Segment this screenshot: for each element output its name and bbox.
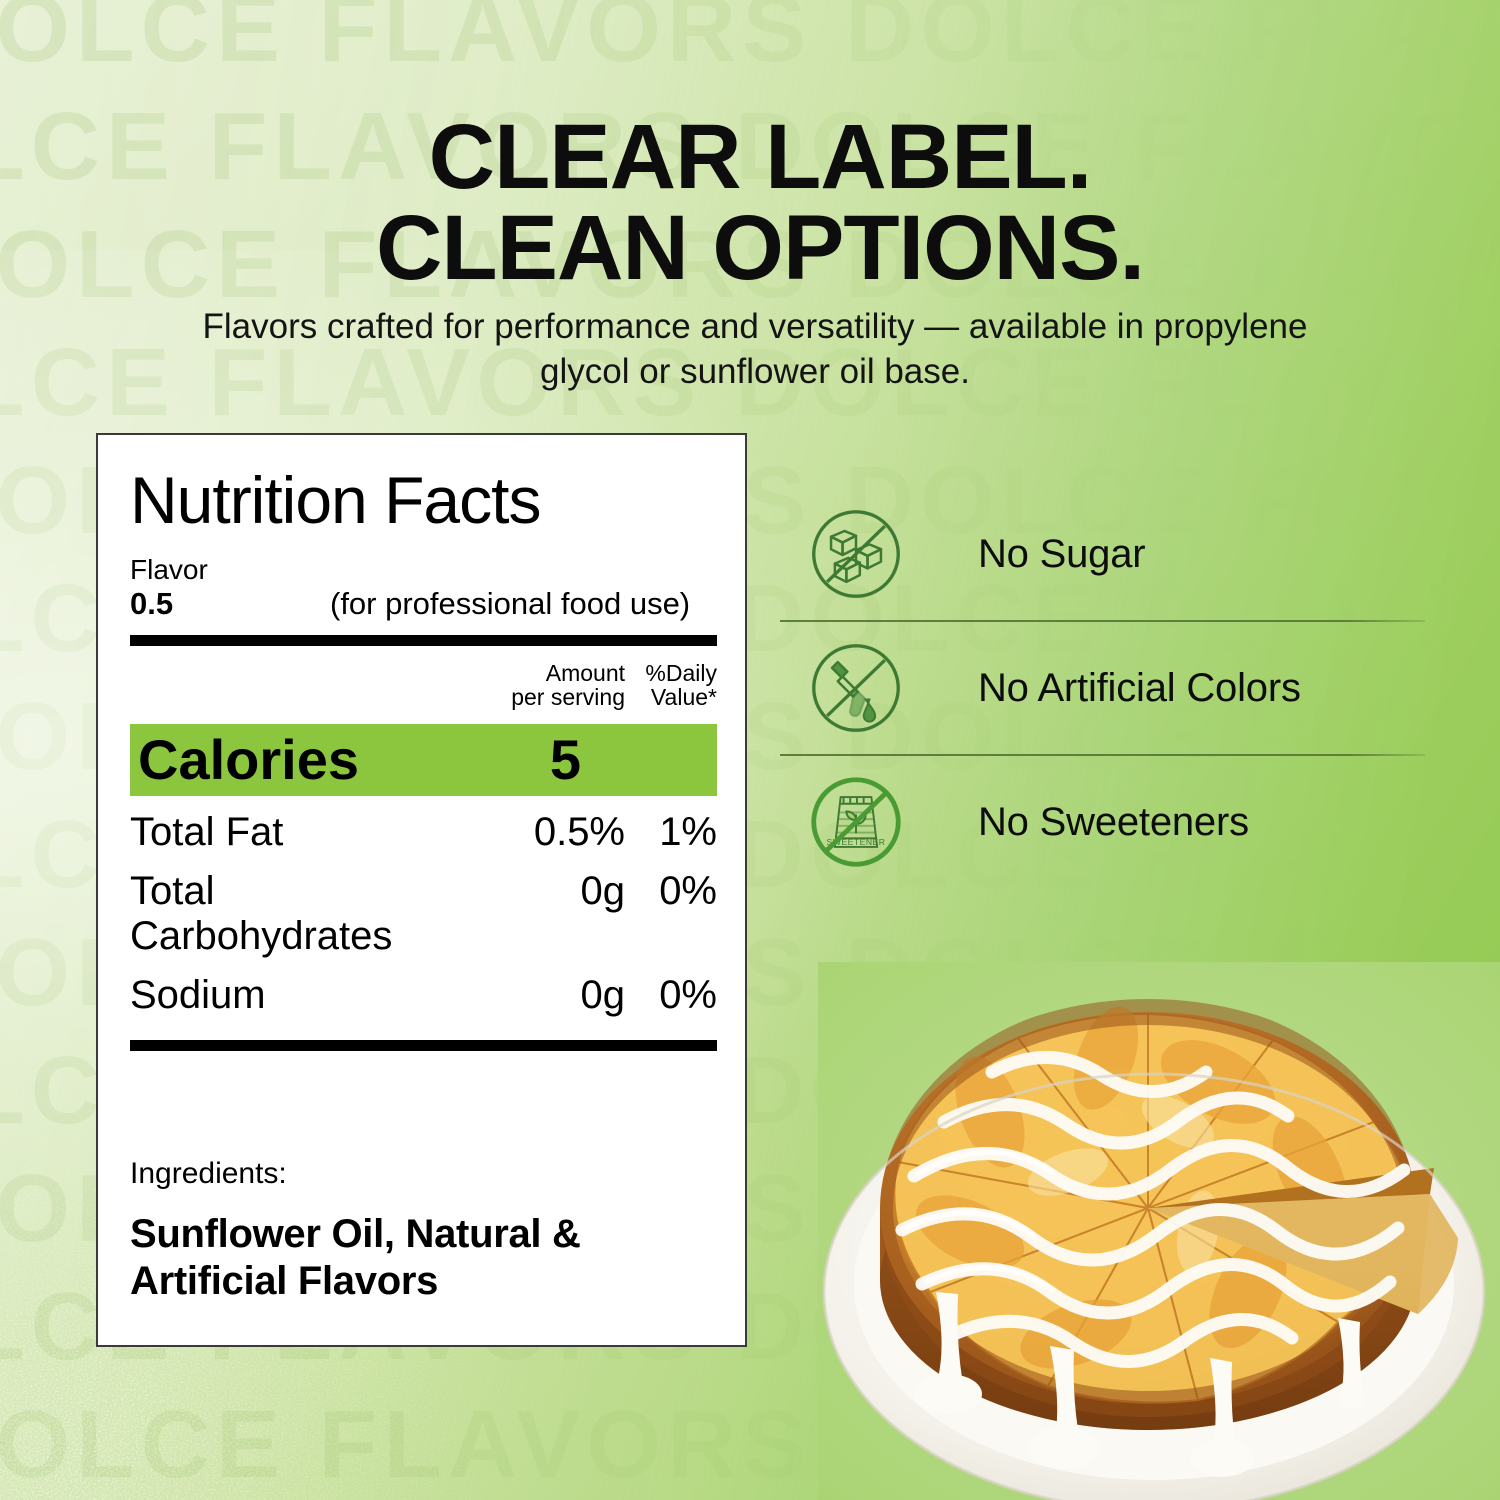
subheading: Flavors crafted for performance and vers… <box>195 305 1315 395</box>
column-header-amount: Amount per serving <box>465 661 625 710</box>
ingredients-label: Ingredients: <box>130 1157 717 1191</box>
benefit-row-no-sugar: No Sugar <box>780 488 1428 620</box>
nutrient-amount: 0.5% <box>465 810 625 855</box>
professional-use-note: (for professional food use) <box>330 586 690 622</box>
nutrition-column-headers: Amount per serving %Daily Value* <box>130 661 717 716</box>
amount-line-1: Amount <box>546 660 625 686</box>
amount-line-2: per serving <box>511 684 625 710</box>
nutrient-row: Total Carbohydrates0g0% <box>130 869 717 959</box>
nutrition-facts-title: Nutrition Facts <box>130 467 717 533</box>
benefit-row-no-sweeteners: SWEETENER No Sweeteners <box>780 756 1428 888</box>
benefit-label-no-sweeteners: No Sweeteners <box>978 800 1249 845</box>
watermark-row: DOLCE FLAVORS DOLCE FLAVORS DOLCE FLAVOR… <box>0 0 1500 88</box>
nutrient-name: Total Fat <box>130 810 465 855</box>
calories-label: Calories <box>138 732 359 788</box>
nutrient-name: Sodium <box>130 973 465 1018</box>
headline-line-2: CLEAN OPTIONS. <box>170 203 1350 294</box>
product-photo <box>818 962 1500 1500</box>
column-header-daily-value: %Daily Value* <box>635 661 717 710</box>
calories-bar: Calories 5 <box>130 724 717 796</box>
benefit-row-no-artificial-colors: No Artificial Colors <box>780 622 1428 754</box>
serving-info: Flavor 0.5 (for professional food use) <box>130 553 717 621</box>
subheading-line-1: Flavors crafted for performance and vers… <box>203 307 1145 346</box>
no-dropper-icon <box>808 640 904 736</box>
nutrient-daily-value: 0% <box>635 869 717 914</box>
nutrient-rows: Total Fat0.5%1%Total Carbohydrates0g0%So… <box>130 810 717 1018</box>
nutrition-facts-card: Nutrition Facts Flavor 0.5 (for professi… <box>96 433 747 1347</box>
ingredients-section: Ingredients: Sunflower Oil, Natural & Ar… <box>130 1157 717 1305</box>
benefit-label-no-sugar: No Sugar <box>978 532 1145 577</box>
serving-label: Flavor <box>130 553 717 586</box>
nutrition-facts-body: Nutrition Facts Flavor 0.5 (for professi… <box>130 435 717 1051</box>
page-title: CLEAR LABEL. CLEAN OPTIONS. <box>170 112 1350 294</box>
calories-value: 5 <box>550 732 581 788</box>
ingredients-text: Sunflower Oil, Natural & Artificial Flav… <box>130 1211 717 1305</box>
nutrient-daily-value: 0% <box>635 973 717 1018</box>
no-sugar-cubes-icon <box>808 506 904 602</box>
benefit-label-no-artificial-colors: No Artificial Colors <box>978 666 1301 711</box>
nutrient-row: Total Fat0.5%1% <box>130 810 717 855</box>
promo-graphic: DOLCE FLAVORS DOLCE FLAVORS DOLCE FLAVOR… <box>0 0 1500 1500</box>
nutrient-daily-value: 1% <box>635 810 717 855</box>
no-sweetener-packet-icon: SWEETENER <box>808 774 904 870</box>
dv-line-2: Value* <box>651 684 717 710</box>
nutrient-name: Total Carbohydrates <box>130 869 465 959</box>
headline-line-1: CLEAR LABEL. <box>429 106 1092 208</box>
benefits-list: No Sugar No Artificial Colors <box>780 488 1428 888</box>
nutrition-rule-bottom <box>130 1040 717 1051</box>
nutrient-amount: 0g <box>465 869 625 914</box>
nutrient-row: Sodium0g0% <box>130 973 717 1018</box>
nutrient-amount: 0g <box>465 973 625 1018</box>
dv-line-1: %Daily <box>645 660 717 686</box>
nutrition-rule-top <box>130 635 717 646</box>
